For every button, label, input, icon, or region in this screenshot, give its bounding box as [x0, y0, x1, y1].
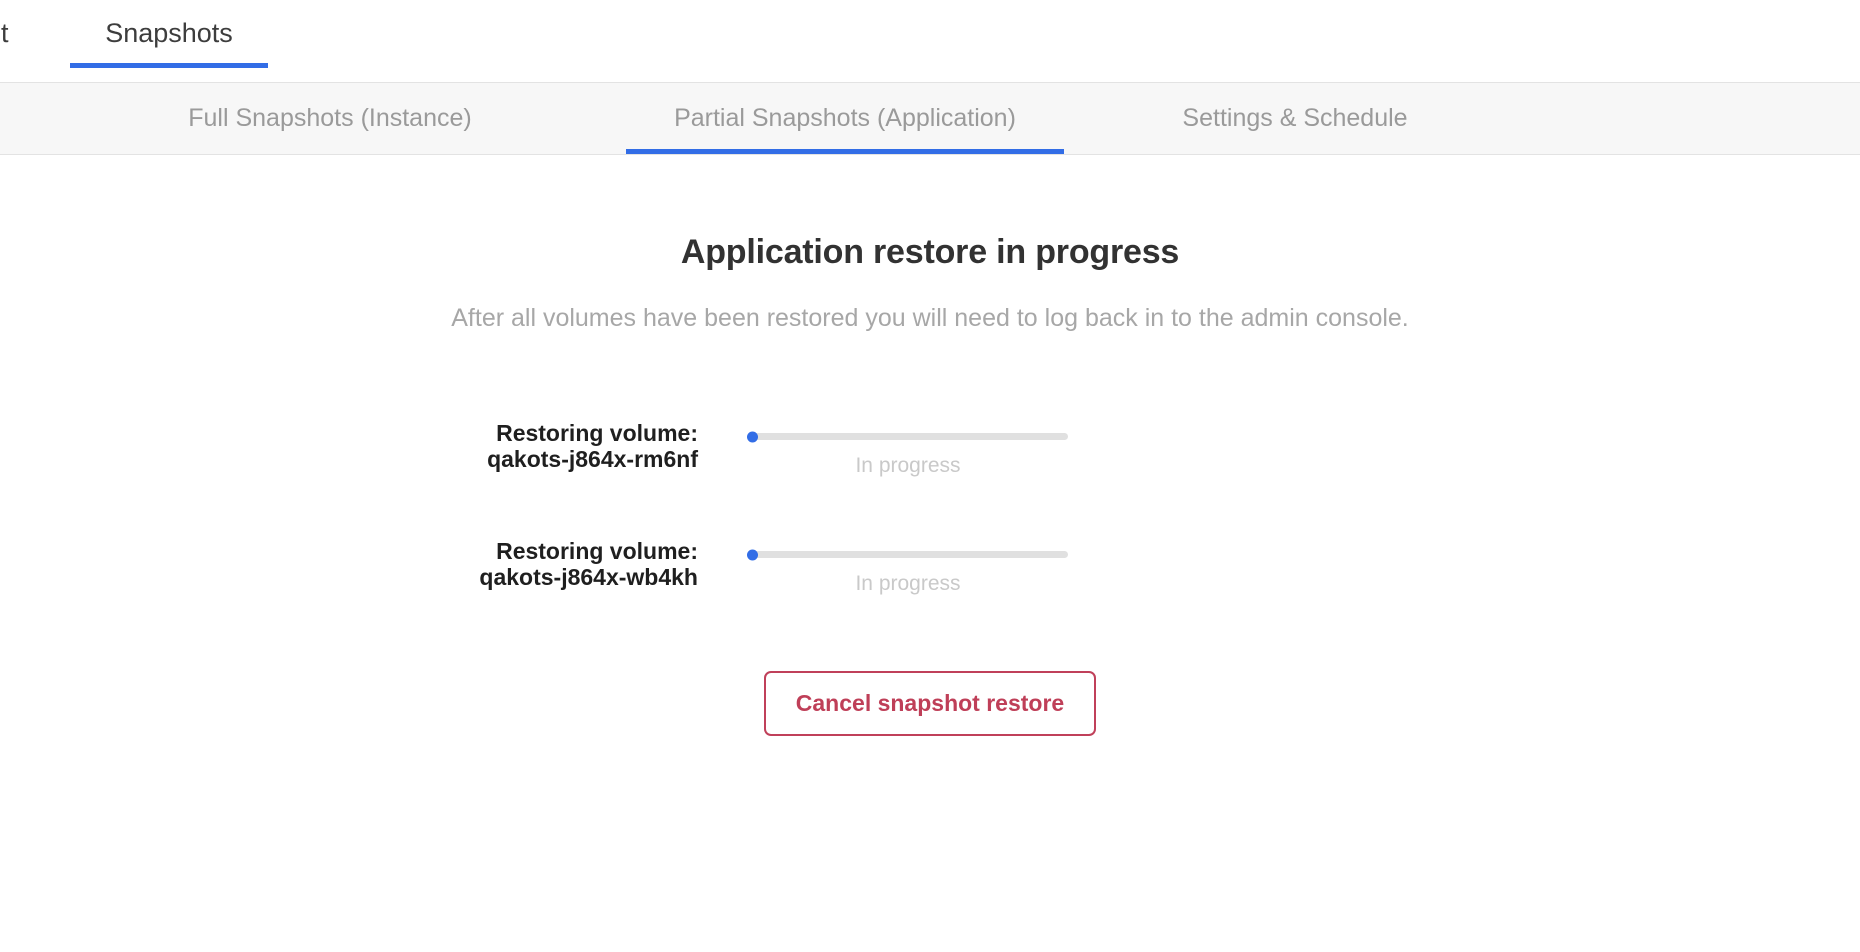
volume-progress-indicator-dot	[747, 549, 758, 560]
volume-restore-list: Restoring volume: qakots-j864x-rm6nf In …	[0, 421, 1860, 657]
primary-tab-list: nt Snapshots	[0, 0, 268, 82]
volume-restore-row: Restoring volume: qakots-j864x-wb4kh In …	[0, 539, 1860, 657]
page-subtitle: After all volumes have been restored you…	[0, 272, 1860, 333]
tab-partial-snapshots-application-label: Partial Snapshots (Application)	[674, 104, 1016, 133]
tab-settings-and-schedule[interactable]: Settings & Schedule	[1130, 83, 1460, 154]
tab-full-snapshots-instance[interactable]: Full Snapshots (Instance)	[150, 83, 510, 154]
volume-progress-group: In progress	[748, 421, 1188, 478]
volume-progress-status: In progress	[748, 454, 1068, 478]
volume-progress-status: In progress	[748, 572, 1068, 596]
volume-restore-name: qakots-j864x-wb4kh	[0, 565, 698, 591]
tab-clipped-previous[interactable]: nt	[0, 0, 41, 82]
volume-progress-group: In progress	[748, 539, 1188, 596]
tab-partial-snapshots-application-active-underline	[626, 149, 1064, 154]
tab-snapshots[interactable]: Snapshots	[70, 0, 268, 82]
volume-progress-indicator-dot	[747, 431, 758, 442]
volume-progress-bar	[748, 433, 1068, 440]
volume-restore-row: Restoring volume: qakots-j864x-rm6nf In …	[0, 421, 1860, 539]
volume-restore-label: Restoring volume: qakots-j864x-wb4kh	[0, 539, 748, 591]
primary-tab-bar: nt Snapshots	[0, 0, 1860, 82]
volume-restore-label-line1: Restoring volume:	[0, 421, 698, 447]
tab-full-snapshots-instance-label: Full Snapshots (Instance)	[188, 104, 471, 133]
volume-restore-label-line1: Restoring volume:	[0, 539, 698, 565]
volume-restore-label: Restoring volume: qakots-j864x-rm6nf	[0, 421, 748, 473]
tab-settings-and-schedule-label: Settings & Schedule	[1182, 104, 1407, 133]
restore-progress-panel: Application restore in progress After al…	[0, 155, 1860, 736]
volume-restore-name: qakots-j864x-rm6nf	[0, 447, 698, 473]
cancel-button-container: Cancel snapshot restore	[0, 671, 1860, 736]
tab-clipped-previous-label: nt	[0, 18, 9, 49]
cancel-snapshot-restore-button[interactable]: Cancel snapshot restore	[764, 671, 1096, 736]
tab-partial-snapshots-application[interactable]: Partial Snapshots (Application)	[626, 83, 1064, 154]
tab-snapshots-label: Snapshots	[105, 18, 233, 49]
secondary-tab-bar: Full Snapshots (Instance) Partial Snapsh…	[0, 82, 1860, 155]
page-title: Application restore in progress	[0, 155, 1860, 272]
volume-progress-bar	[748, 551, 1068, 558]
tab-snapshots-active-underline	[70, 63, 268, 68]
